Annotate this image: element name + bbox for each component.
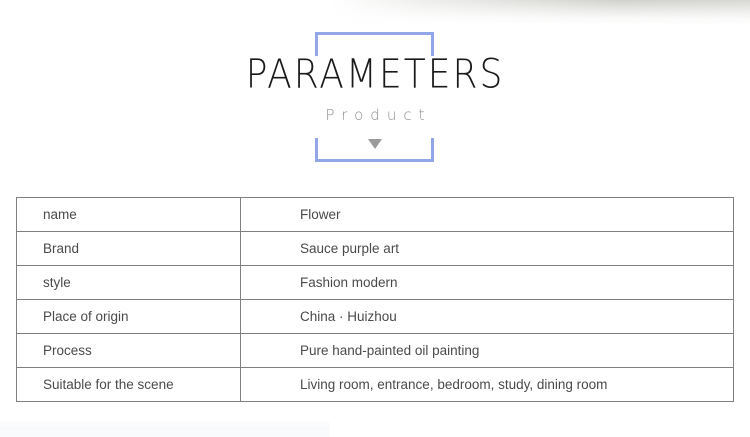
parameter-value: Living room, entrance, bedroom, study, d… xyxy=(241,368,734,402)
parameter-label: name xyxy=(17,198,241,232)
table-row: ProcessPure hand-painted oil painting xyxy=(17,334,734,368)
parameter-value: Sauce purple art xyxy=(241,232,734,266)
table-row: Place of originChina · Huizhou xyxy=(17,300,734,334)
table-row: Suitable for the sceneLiving room, entra… xyxy=(17,368,734,402)
parameter-value: China · Huizhou xyxy=(241,300,734,334)
parameter-label: Process xyxy=(17,334,241,368)
page-header: PARAMETERS Product xyxy=(0,0,750,190)
triangle-down-icon xyxy=(368,139,382,149)
parameter-value: Flower xyxy=(241,198,734,232)
page-title: PARAMETERS xyxy=(0,55,750,95)
bottom-edge-artifact xyxy=(0,420,330,437)
parameters-table: nameFlowerBrandSauce purple artstyleFash… xyxy=(16,197,734,402)
page-subtitle: Product xyxy=(0,108,750,123)
table-row: BrandSauce purple art xyxy=(17,232,734,266)
parameter-label: Place of origin xyxy=(17,300,241,334)
parameter-value: Fashion modern xyxy=(241,266,734,300)
table-row: nameFlower xyxy=(17,198,734,232)
parameter-label: Brand xyxy=(17,232,241,266)
parameter-label: style xyxy=(17,266,241,300)
parameter-label: Suitable for the scene xyxy=(17,368,241,402)
table-row: styleFashion modern xyxy=(17,266,734,300)
parameter-value: Pure hand-painted oil painting xyxy=(241,334,734,368)
parameters-table-body: nameFlowerBrandSauce purple artstyleFash… xyxy=(17,198,734,402)
